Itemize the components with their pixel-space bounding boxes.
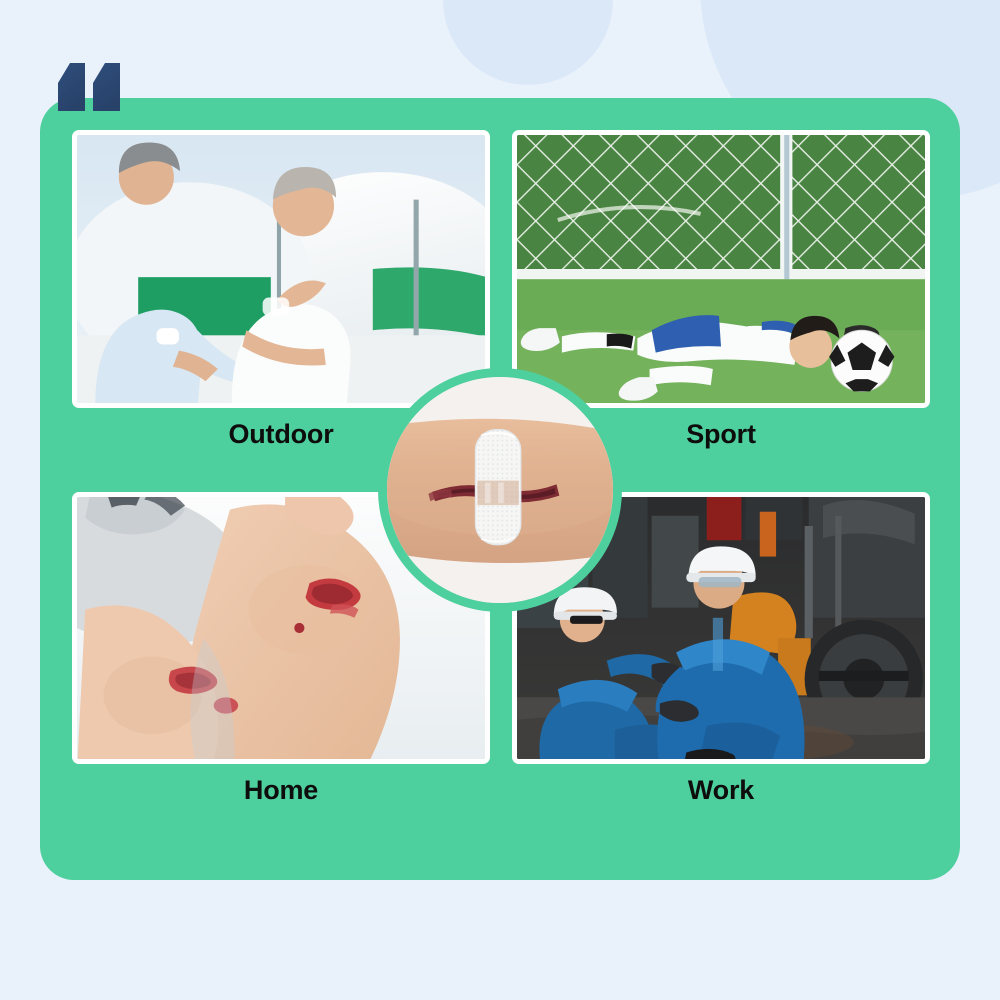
decorative-circle-top (443, 0, 613, 85)
use-case-label-work: Work (688, 777, 754, 804)
wound-closure-bandage-photo (378, 368, 622, 612)
use-case-label-sport: Sport (686, 421, 756, 448)
sport-photo (512, 130, 930, 408)
use-case-label-home: Home (244, 777, 318, 804)
use-case-label-outdoor: Outdoor (228, 421, 333, 448)
outdoor-photo (72, 130, 490, 408)
quote-mark-icon (58, 63, 120, 111)
